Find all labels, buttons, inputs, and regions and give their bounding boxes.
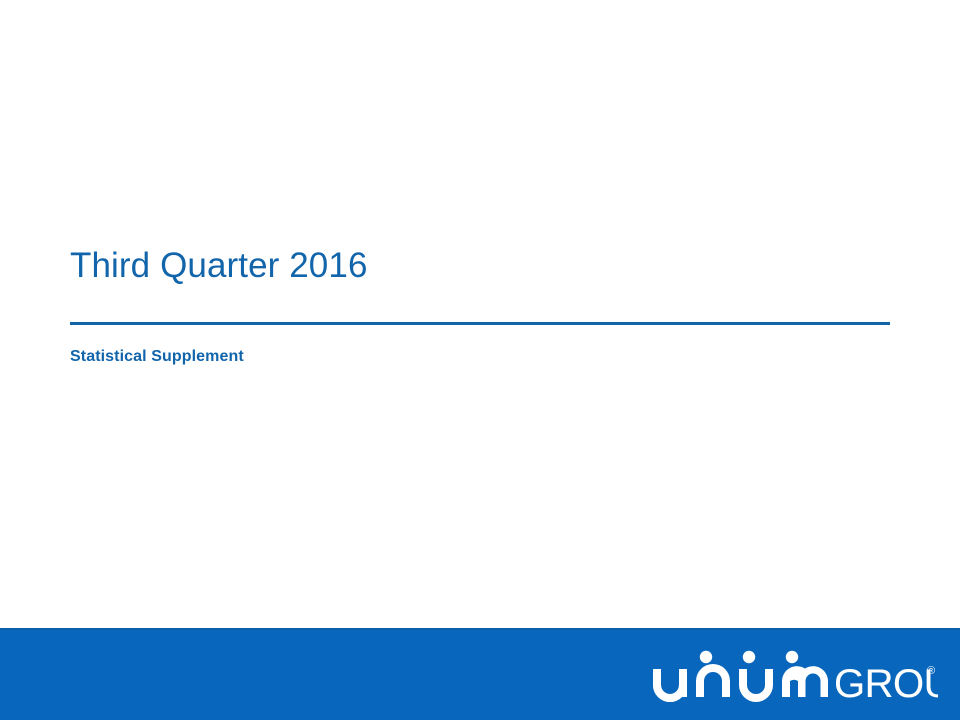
page-title: Third Quarter 2016 [70,248,890,285]
unum-wordmark-icon [653,651,828,702]
title-slide: Third Quarter 2016 Statistical Supplemen… [0,0,960,720]
group-wordmark-text: GROUP [834,662,938,703]
registered-trademark-icon: ® [927,665,935,677]
footer-band: GROUP ® [0,628,960,720]
unum-group-logo: GROUP ® [648,647,938,703]
title-divider [70,322,890,325]
page-subtitle: Statistical Supplement [70,348,244,366]
title-block: Third Quarter 2016 [70,248,890,285]
